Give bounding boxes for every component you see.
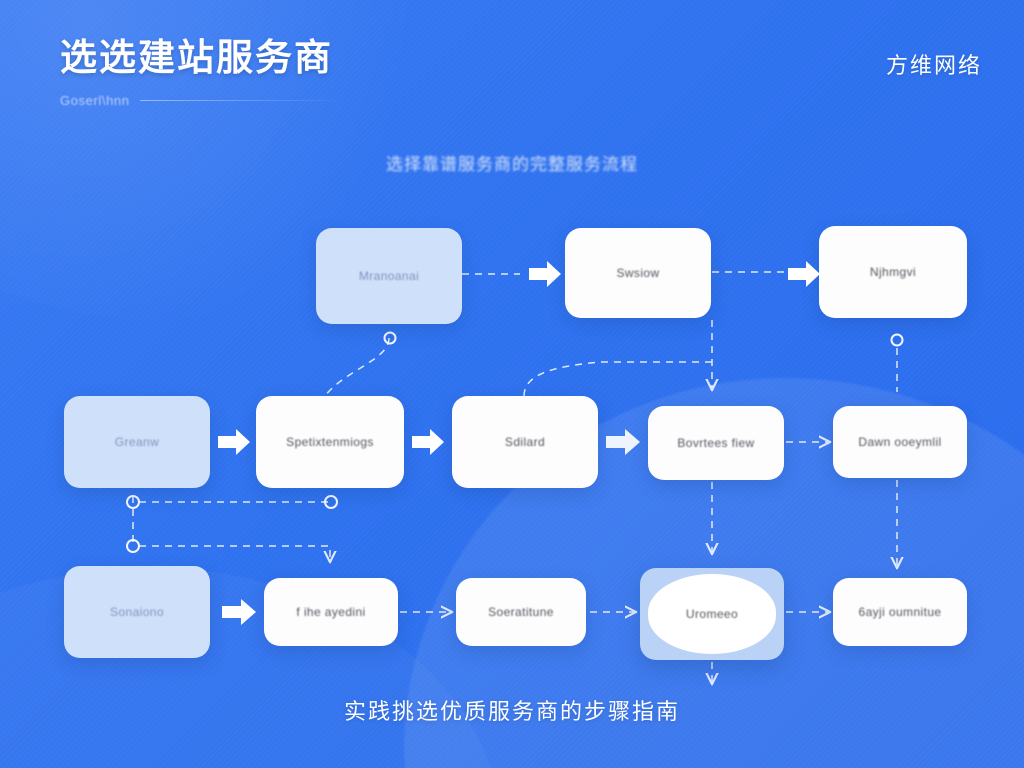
- connector-n6-up-right: [524, 362, 712, 396]
- block-arrow-top-2-to-3: [786, 258, 822, 290]
- flow-node-n4[interactable]: Greanw: [64, 396, 210, 488]
- flow-node-n5[interactable]: Spetixtenmiogs: [256, 396, 404, 488]
- flow-node-n11[interactable]: Soeratitune: [456, 578, 586, 646]
- connector-n1-down-left: [325, 338, 389, 396]
- flow-node-label: Njhmgvi: [870, 265, 916, 280]
- flow-node-n1[interactable]: Mranoanai: [316, 228, 462, 324]
- flow-node-oval: Uromeeo: [648, 574, 776, 654]
- flow-node-label: Sonaiono: [110, 605, 164, 620]
- flow-node-label: Sdilard: [505, 435, 545, 450]
- flow-node-n7[interactable]: Bovrtees fiew: [648, 406, 784, 480]
- flow-node-label: Uromeeo: [686, 607, 738, 622]
- flow-node-n2[interactable]: Swsiow: [565, 228, 711, 318]
- flow-node-label: Bovrtees fiew: [677, 436, 754, 451]
- flow-node-label: Mranoanai: [359, 269, 419, 284]
- block-arrow-mid-6-to-7: [604, 426, 642, 458]
- block-arrow-top-1-to-2: [527, 258, 563, 290]
- connector-loop-bottom: [139, 546, 330, 560]
- flow-node-label: Greanw: [115, 435, 159, 450]
- flow-node-label: f ihe ayedini: [296, 605, 365, 620]
- connector-dot-n1: [385, 333, 396, 344]
- flow-node-n12[interactable]: Uromeeo: [640, 568, 784, 660]
- flow-node-label: Soeratitune: [488, 605, 554, 620]
- footer-caption: 实践挑选优质服务商的步骤指南: [0, 694, 1024, 726]
- flow-node-label: Spetixtenmiogs: [286, 435, 374, 450]
- flow-node-n10[interactable]: f ihe ayedini: [264, 578, 398, 646]
- block-arrow-bot-9-to-10: [220, 596, 258, 628]
- flow-node-n9[interactable]: Sonaiono: [64, 566, 210, 658]
- flow-node-label: Dawn ooeymlil: [858, 435, 941, 450]
- block-arrow-mid-5-to-6: [410, 426, 446, 458]
- block-arrow-mid-4-to-5: [216, 426, 252, 458]
- flow-node-label: 6ayji oumnitue: [859, 605, 942, 620]
- flow-node-n6[interactable]: Sdilard: [452, 396, 598, 488]
- flow-diagram: Mranoanai Swsiow Njhmgvi Greanw Spetixte…: [0, 0, 1024, 768]
- flow-node-n13[interactable]: 6ayji oumnitue: [833, 578, 967, 646]
- flow-node-n3[interactable]: Njhmgvi: [819, 226, 967, 318]
- flow-node-label: Swsiow: [616, 266, 659, 281]
- flow-node-n8[interactable]: Dawn ooeymlil: [833, 406, 967, 478]
- connector-dot-n3: [892, 335, 903, 346]
